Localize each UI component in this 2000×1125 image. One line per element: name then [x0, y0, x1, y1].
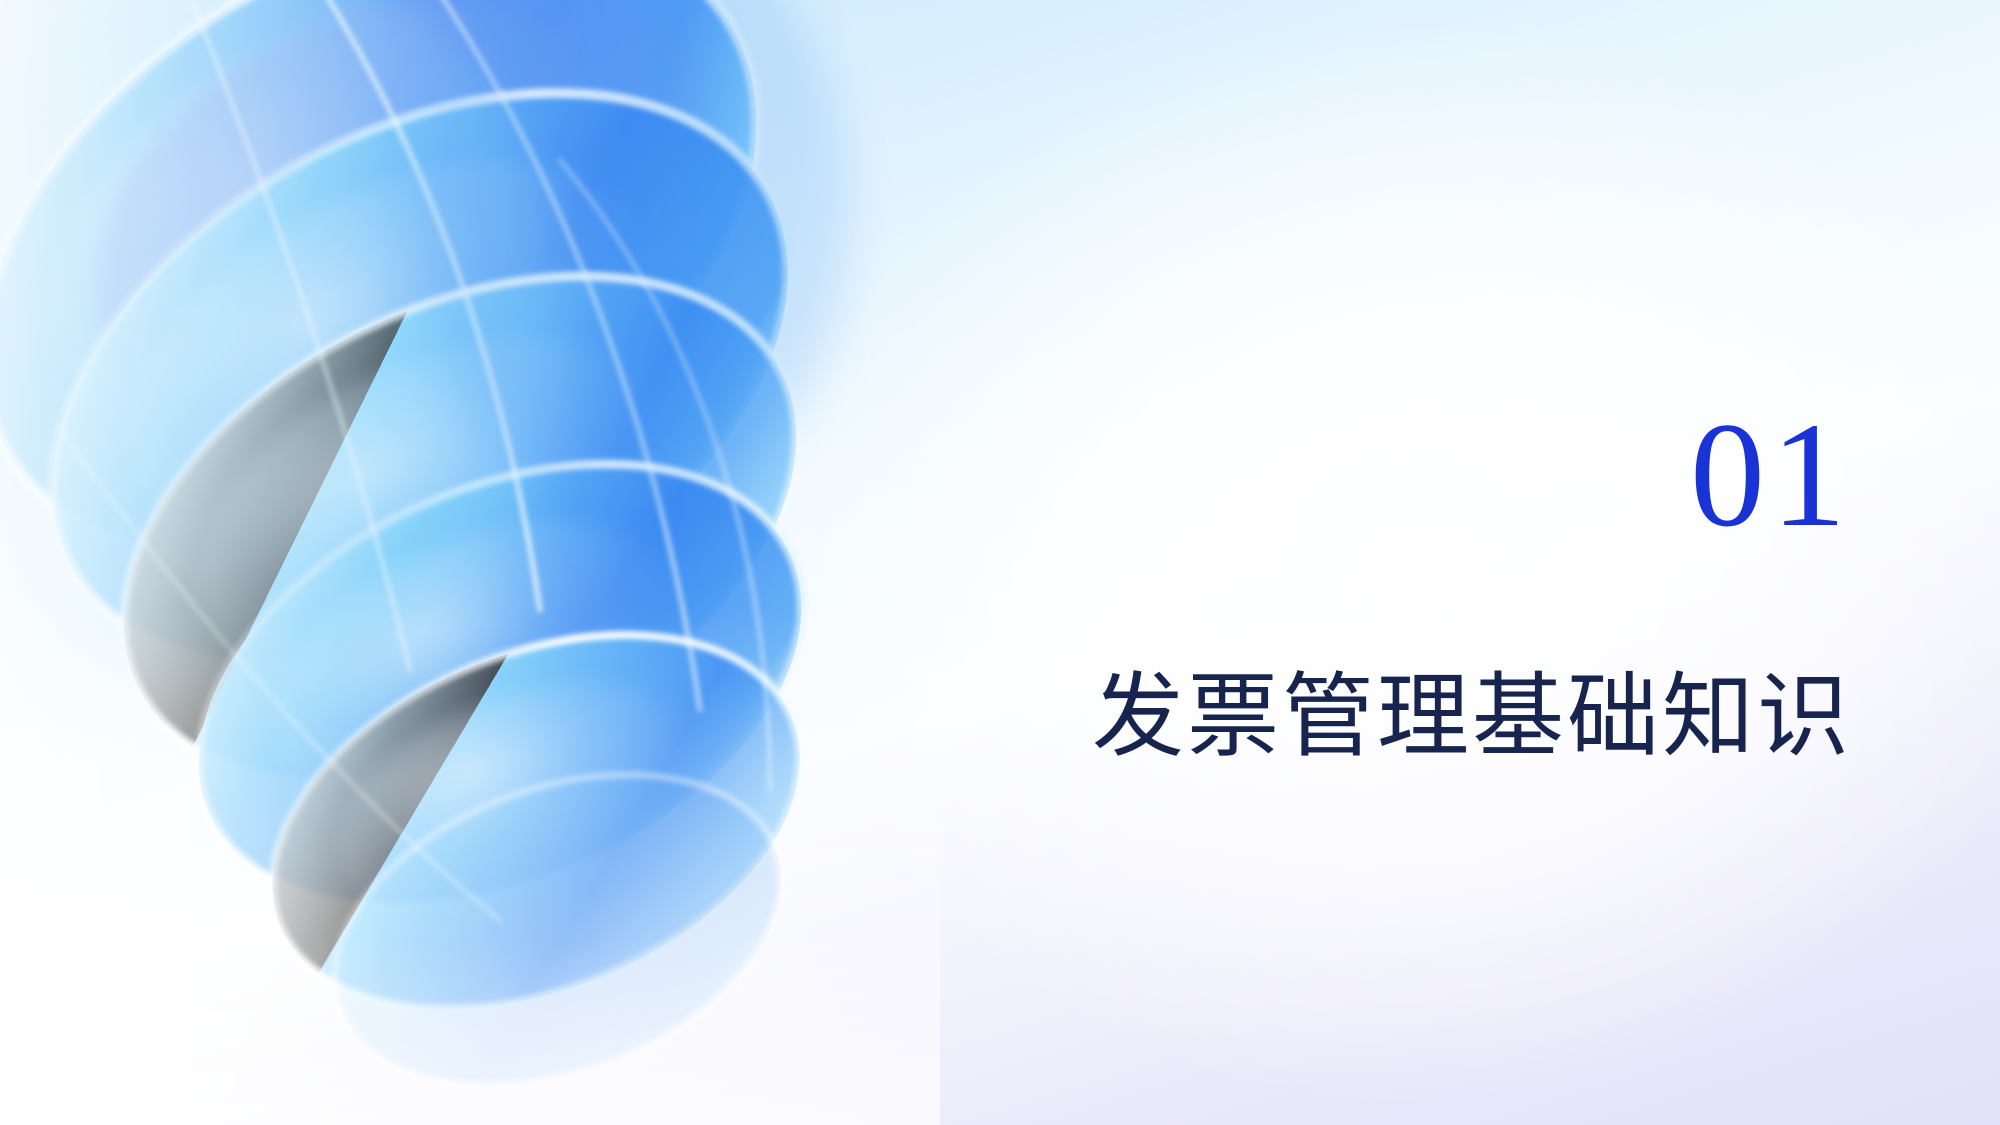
- spiral-loops: [0, 0, 940, 1125]
- section-title: 发票管理基础知识: [1000, 550, 1860, 767]
- glass-spiral-ribbon-decoration: [0, 0, 940, 1125]
- haze-right: [410, 0, 850, 510]
- loop-2: [0, 0, 885, 784]
- section-text-block: 01 发票管理基础知识: [1000, 400, 1860, 767]
- loop-5: [217, 563, 855, 1081]
- bottom-fade-mask: [0, 610, 940, 1125]
- slide-canvas: 01 发票管理基础知识: [0, 0, 2000, 1125]
- loop-4: [130, 377, 870, 994]
- filament-highlights: [60, 0, 770, 920]
- left-fade-mask: [0, 0, 940, 1125]
- loop-1: [0, 0, 870, 689]
- loop-3: [41, 174, 879, 887]
- haze-left: [0, 0, 560, 710]
- loop-sheet-indigo: [25, 0, 794, 528]
- loop-6-faint: [291, 717, 824, 1125]
- section-number: 01: [1000, 400, 1860, 550]
- decoration-svg: [0, 0, 940, 1125]
